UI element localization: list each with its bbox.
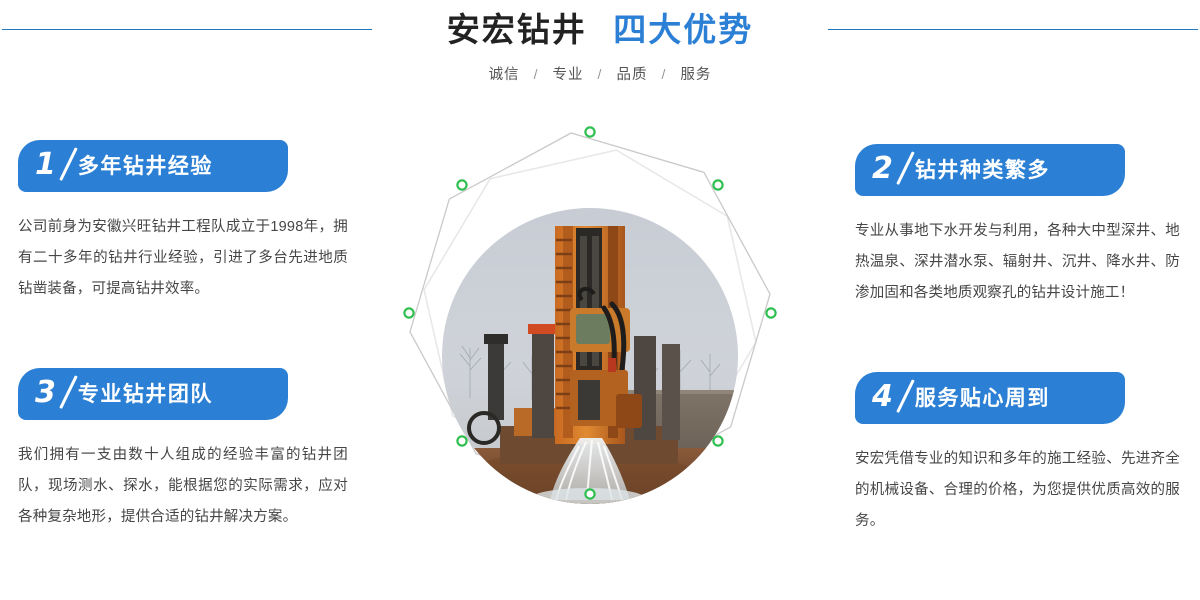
card-2-title: 钻井种类繁多	[915, 160, 1050, 181]
card-1-body-text: 公司前身为安徽兴旺钻井工程队成立于1998年，拥有二十多年的钻井行业经验，引进了…	[18, 212, 348, 305]
card-2-banner: 2 钻井种类繁多	[855, 144, 1125, 196]
center-photo-decoration	[380, 108, 800, 588]
card-3-title: 专业钻井团队	[78, 384, 213, 405]
vertex-node-2	[766, 308, 775, 317]
subtitle-separator-2: /	[662, 66, 667, 82]
page-title: 安宏钻井 四大优势	[0, 7, 1200, 53]
card-4-title: 服务贴心周到	[915, 388, 1050, 409]
subtitle-item-0: 诚信	[489, 67, 520, 83]
advantages-section: 安宏钻井 四大优势 诚信 / 专业 / 品质 / 服务	[0, 0, 1200, 600]
vertex-node-5	[457, 436, 466, 445]
card-2-number-badge: 2	[872, 154, 909, 184]
subtitle-item-3: 服务	[680, 67, 711, 83]
card-1-banner: 1 多年钻井经验	[18, 140, 288, 192]
card-3-number-badge: 3	[35, 378, 72, 408]
vertex-node-1	[713, 180, 722, 189]
vertex-node-4	[585, 489, 594, 498]
title-accent-text: 四大优势	[613, 7, 753, 53]
vertex-node-0	[585, 127, 594, 136]
vertex-node-6	[404, 308, 413, 317]
card-4-body-text: 安宏凭借专业的知识和多年的施工经验、先进齐全的机械设备、合理的价格，为您提供优质…	[855, 444, 1180, 537]
drilling-rig-photo	[442, 208, 748, 512]
card-4-number-badge: 4	[872, 382, 909, 412]
card-3-body-text: 我们拥有一支由数十人组成的经验丰富的钻井团队，现场测水、探水，能根据您的实际需求…	[18, 440, 348, 533]
card-1-title: 多年钻井经验	[78, 156, 213, 177]
card-1-number-badge: 1	[35, 150, 72, 180]
advantage-card-3[interactable]: 3 专业钻井团队 我们拥有一支由数十人组成的经验丰富的钻井团队，现场测水、探水，…	[18, 368, 348, 533]
title-main-text: 安宏钻井	[447, 7, 587, 53]
vertex-node-7	[457, 180, 466, 189]
card-4-banner: 4 服务贴心周到	[855, 372, 1125, 424]
advantage-card-1[interactable]: 1 多年钻井经验 公司前身为安徽兴旺钻井工程队成立于1998年，拥有二十多年的钻…	[18, 140, 348, 305]
advantage-card-4[interactable]: 4 服务贴心周到 安宏凭借专业的知识和多年的施工经验、先进齐全的机械设备、合理的…	[855, 372, 1185, 537]
subtitle-item-2: 品质	[616, 67, 647, 83]
card-3-banner: 3 专业钻井团队	[18, 368, 288, 420]
subtitle-keywords: 诚信 / 专业 / 品质 / 服务	[0, 63, 1200, 84]
advantage-card-2[interactable]: 2 钻井种类繁多 专业从事地下水开发与利用，各种大中型深井、地热温泉、深井潜水泵…	[855, 144, 1185, 309]
vertex-node-3	[713, 436, 722, 445]
subtitle-item-1: 专业	[553, 67, 584, 83]
card-2-body-text: 专业从事地下水开发与利用，各种大中型深井、地热温泉、深井潜水泵、辐射井、沉井、降…	[855, 216, 1180, 309]
subtitle-separator-0: /	[534, 66, 539, 82]
subtitle-separator-1: /	[598, 66, 603, 82]
section-header: 安宏钻井 四大优势 诚信 / 专业 / 品质 / 服务	[0, 0, 1200, 110]
